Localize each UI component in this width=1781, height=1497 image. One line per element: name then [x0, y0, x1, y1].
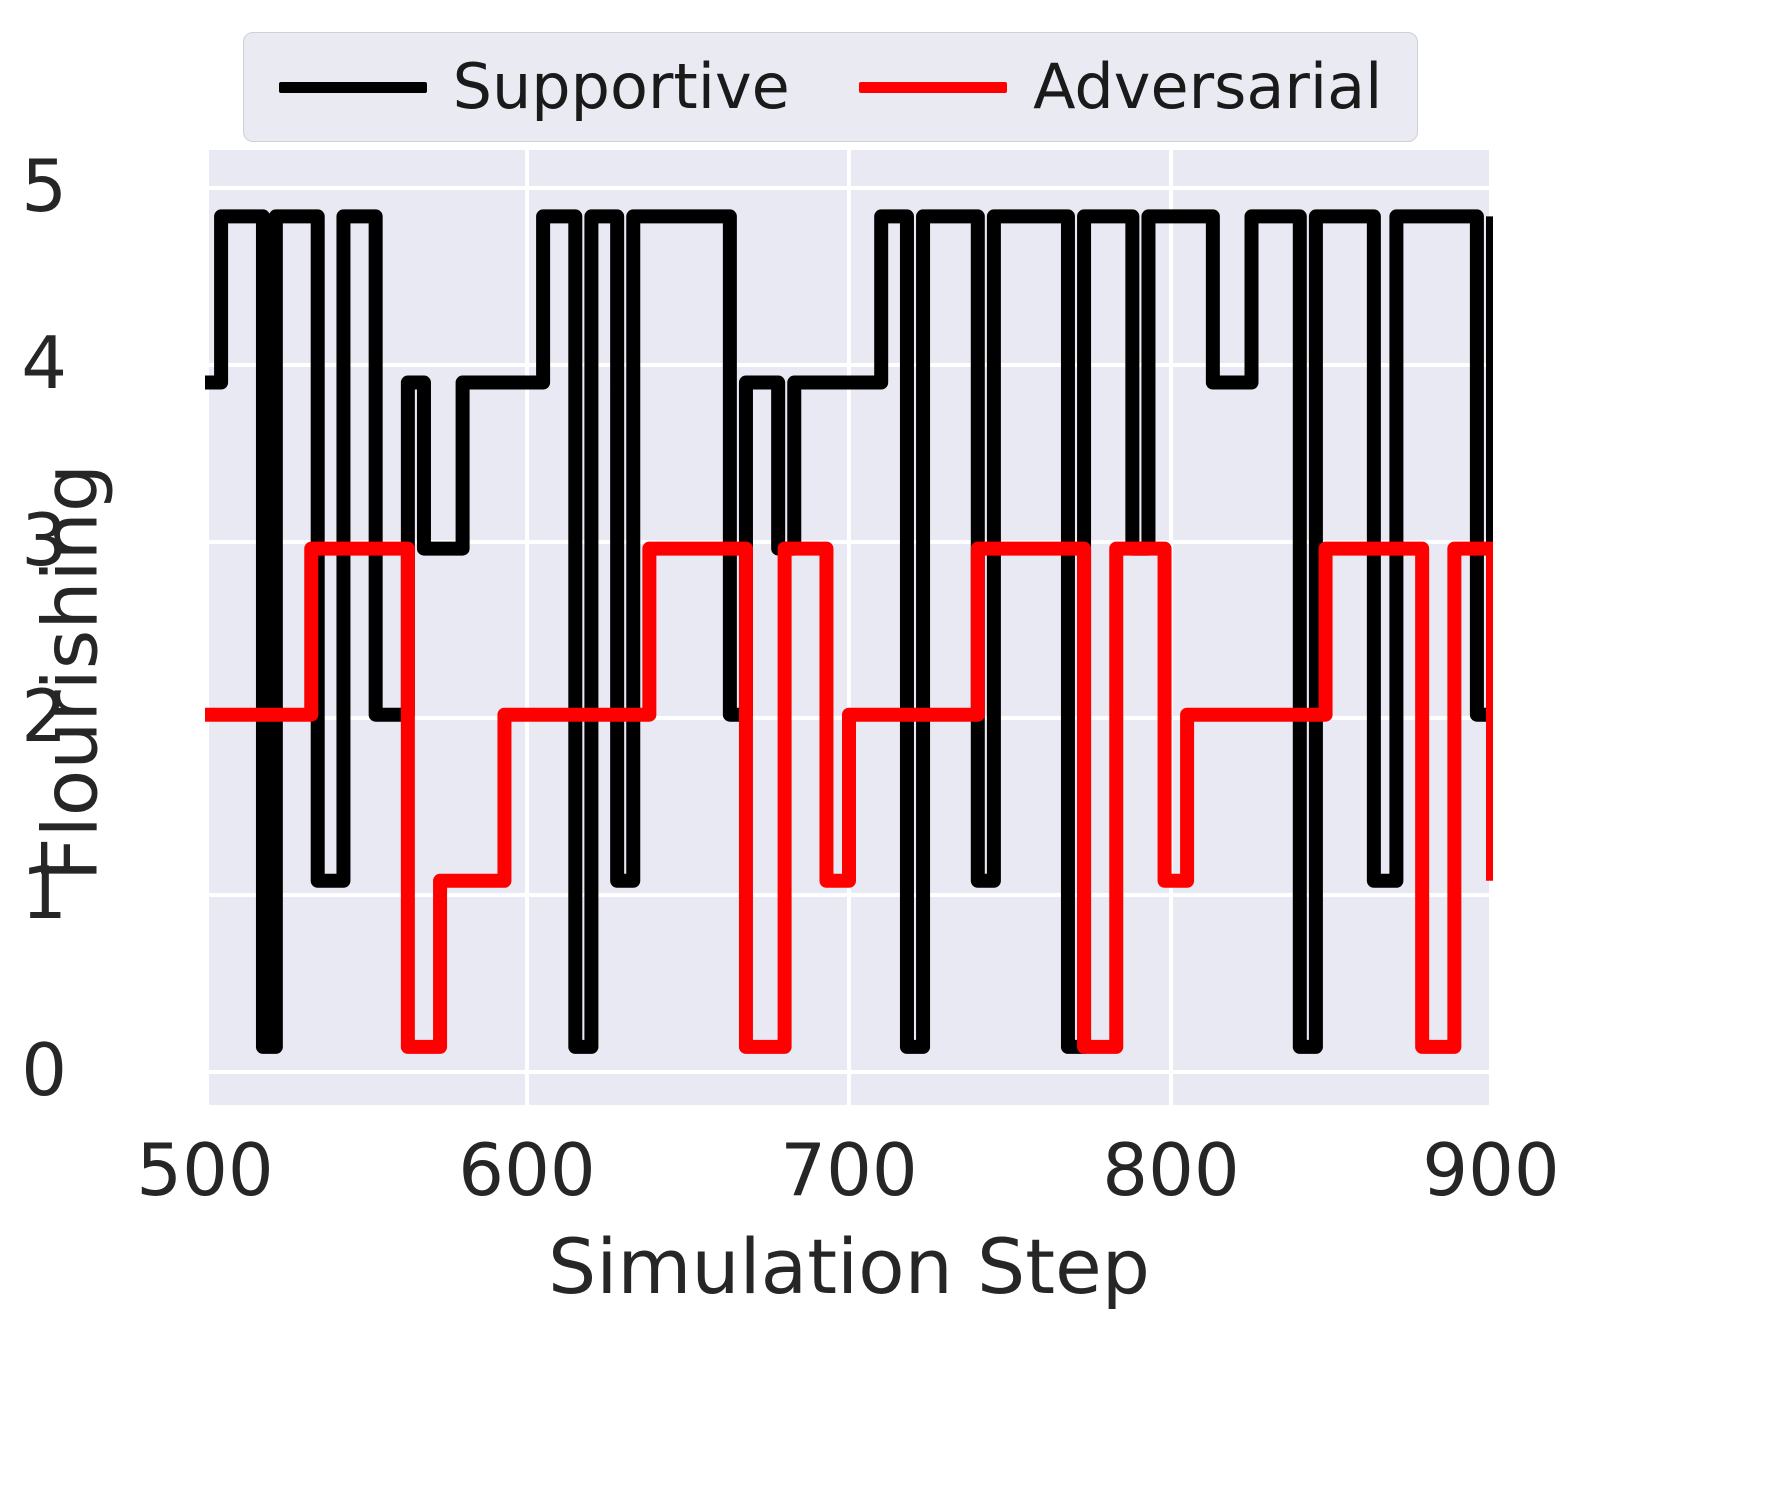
xtick-label-600: 600: [458, 1128, 595, 1212]
legend-entry-supportive: Supportive: [279, 56, 790, 118]
xtick-label-700: 700: [780, 1128, 917, 1212]
xtick-label-500: 500: [136, 1128, 273, 1212]
legend-label-adversarial: Adversarial: [1033, 56, 1382, 118]
ytick-label-5: 5: [21, 144, 67, 228]
series-layer: [205, 150, 1493, 1105]
xtick-label-900: 900: [1422, 1128, 1559, 1212]
x-axis-label: Simulation Step: [205, 1222, 1493, 1311]
series-line-supportive: [205, 216, 1493, 1046]
legend-line-swatch-icon: [859, 82, 1007, 93]
legend-line-swatch-icon: [279, 82, 427, 93]
chart-figure: Supportive Adversarial 5 4 3 2 1 0 500 6…: [0, 0, 1781, 1497]
xtick-label-800: 800: [1102, 1128, 1239, 1212]
chart-legend: Supportive Adversarial: [243, 32, 1418, 142]
y-axis-label: Flourishing: [26, 273, 115, 1073]
legend-label-supportive: Supportive: [453, 56, 790, 118]
legend-entry-adversarial: Adversarial: [859, 56, 1382, 118]
plot-area: [205, 150, 1493, 1105]
